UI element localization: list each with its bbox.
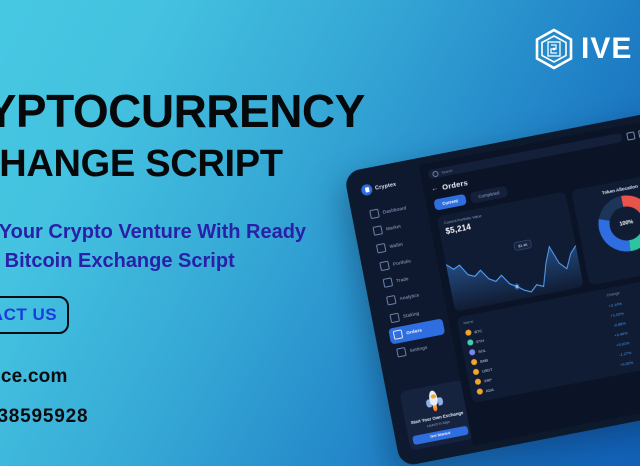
contact-us-button[interactable]: CONTACT US — [0, 296, 69, 334]
tablet-mockup: Cryptex Dashboard Market Wallet Portfoli… — [344, 110, 640, 466]
coin-icon — [476, 388, 483, 395]
search-icon — [432, 170, 439, 177]
coin-symbol: BNB — [480, 357, 489, 363]
swap-icon — [383, 278, 394, 289]
dashboard-brand-name: Cryptex — [375, 181, 397, 191]
headline-line-1: CRYPTOCURRENCY — [0, 88, 442, 136]
dashboard-page-title: Orders — [441, 178, 468, 192]
coin-symbol: BTC — [474, 328, 483, 334]
layers-icon — [389, 312, 400, 323]
tab-current[interactable]: Current — [433, 194, 466, 211]
hexagon-chip-icon — [532, 27, 576, 71]
wallet-icon — [376, 243, 387, 254]
sidebar-item-label: Portfolio — [392, 258, 411, 266]
tab-completed[interactable]: Completed — [470, 186, 509, 204]
brand-logo-text: IVE — [581, 34, 632, 64]
website-text: hivelance.com — [0, 366, 68, 387]
graph-icon — [386, 295, 397, 306]
coin-symbol: SOL — [478, 347, 487, 353]
sidebar-item-label: Settings — [409, 345, 427, 353]
brand-logo[interactable]: IVE — [532, 27, 632, 71]
coin-symbol: XRP — [483, 377, 492, 383]
dashboard-screen: Cryptex Dashboard Market Wallet Portfoli… — [344, 110, 640, 466]
dashboard-brand: Cryptex — [360, 175, 416, 196]
sidebar-item-label: Dashboard — [382, 205, 406, 214]
coin-icon — [473, 368, 480, 375]
gear-icon — [396, 347, 407, 358]
coin-icon — [471, 359, 478, 366]
coin-symbol: ADA — [485, 386, 494, 392]
pie-icon — [379, 260, 390, 271]
search-placeholder: Search — [441, 168, 453, 174]
coin-icon — [469, 349, 476, 356]
dashboard-logo-icon — [360, 183, 373, 196]
coin-symbol: ETH — [476, 337, 485, 343]
sidebar-item-label: Analytics — [399, 292, 419, 301]
donut-chart: 100% — [594, 191, 640, 257]
promo-banner: IVE CRYPTOCURRENCY EXCHANGE SCRIPT Start… — [0, 0, 640, 466]
coin-icon — [474, 378, 481, 385]
chart-icon — [373, 226, 384, 237]
coin-symbol: USDT — [481, 366, 492, 373]
phone-number[interactable]: +91 8438595928 — [0, 406, 88, 428]
rocket-icon — [422, 389, 446, 414]
coin-icon — [467, 339, 474, 346]
arrow-left-icon[interactable]: ← — [431, 185, 439, 193]
bell-icon[interactable] — [626, 131, 635, 140]
sidebar-item-label: Market — [386, 224, 402, 232]
coin-icon — [465, 329, 472, 336]
sidebar-item-label: Wallet — [389, 242, 403, 249]
token-allocation-card: Token Allocation 100% — [571, 172, 640, 286]
sidebar-item-label: Trade — [396, 276, 409, 283]
col-price: Price — [619, 279, 640, 295]
topbar-icons — [626, 126, 640, 140]
grid-icon — [369, 208, 380, 219]
sidebar-item-label: Staking — [403, 310, 420, 318]
phone-text: +91 8438595928 — [0, 406, 88, 427]
portfolio-chart-card: Current Portfolio Value $5,214 — [437, 192, 584, 312]
sidebar-item-label: Orders — [406, 328, 423, 336]
contact-us-label: CONTACT US — [0, 305, 57, 325]
list-icon — [393, 330, 404, 341]
website-link[interactable]: hivelance.com — [0, 366, 68, 388]
